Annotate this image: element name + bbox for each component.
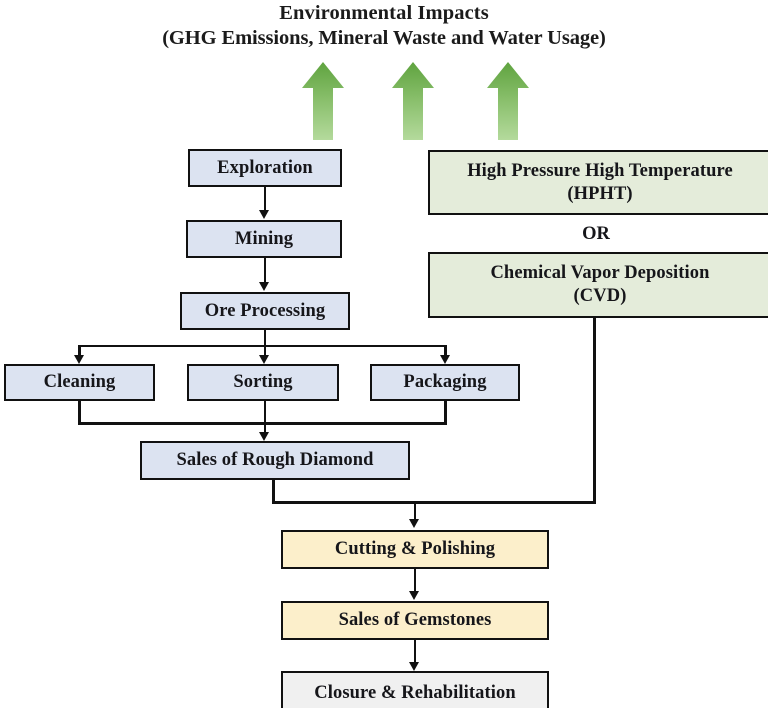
node-sorting-label: Sorting <box>189 371 337 394</box>
merge-bus-to-sales-rough-diamond <box>78 422 447 425</box>
node-sales-rough-diamond-label: Sales of Rough Diamond <box>142 449 408 472</box>
node-cvd-label-line-2: (CVD) <box>426 285 768 308</box>
connector-mining-ore-processing <box>264 258 267 284</box>
node-sales-rough-diamond[interactable]: Sales of Rough Diamond <box>140 441 410 480</box>
connector-cleaning-down <box>78 401 81 425</box>
arrowhead-closure-rehabilitation <box>409 662 419 671</box>
impact-arrow-3-icon <box>486 61 530 141</box>
node-packaging-label: Packaging <box>372 371 518 394</box>
node-ore-processing[interactable]: Ore Processing <box>180 292 350 330</box>
or-label: OR <box>428 224 764 245</box>
node-hpht-label-line-2: (HPHT) <box>426 183 768 206</box>
page-title: Environmental Impacts (GHG Emissions, Mi… <box>0 1 768 51</box>
arrowhead-cutting-polishing <box>409 519 419 528</box>
arrowhead-mining <box>259 210 269 219</box>
node-mining-label: Mining <box>188 228 340 251</box>
split-bus-cleaning-sorting-packaging <box>78 345 447 348</box>
node-closure-rehabilitation-label: Closure & Rehabilitation <box>283 682 547 705</box>
connector-cvd-down <box>593 318 596 504</box>
arrowhead-sales-rough-diamond <box>259 432 269 441</box>
page-title-line-2: (GHG Emissions, Mineral Waste and Water … <box>0 26 768 51</box>
node-cleaning[interactable]: Cleaning <box>4 364 155 401</box>
arrowhead-ore-processing <box>259 282 269 291</box>
connector-sales-rough-diamond-down <box>272 480 275 504</box>
connector-sorting-down <box>264 401 267 425</box>
arrowhead-sorting <box>259 355 269 364</box>
node-closure-rehabilitation[interactable]: Closure & Rehabilitation <box>281 671 549 708</box>
impact-arrow-2-icon <box>391 61 435 141</box>
node-cutting-polishing[interactable]: Cutting & Polishing <box>281 530 549 569</box>
flowchart-canvas: Environmental Impacts (GHG Emissions, Mi… <box>0 0 768 708</box>
impact-arrow-1-icon <box>301 61 345 141</box>
arrowhead-sales-gemstones <box>409 591 419 600</box>
node-cleaning-label: Cleaning <box>6 371 153 394</box>
arrowhead-packaging <box>440 355 450 364</box>
node-mining[interactable]: Mining <box>186 220 342 258</box>
connector-cvd-to-cutting-bus <box>272 501 596 504</box>
node-sorting[interactable]: Sorting <box>187 364 339 401</box>
node-cvd-label-line-1: Chemical Vapor Deposition <box>426 262 768 285</box>
node-hpht-label-line-1: High Pressure High Temperature <box>426 160 768 183</box>
connector-packaging-down <box>444 401 447 425</box>
node-exploration[interactable]: Exploration <box>188 149 342 187</box>
connector-exploration-mining <box>264 187 267 212</box>
node-sales-gemstones[interactable]: Sales of Gemstones <box>281 601 549 640</box>
node-cutting-polishing-label: Cutting & Polishing <box>283 538 547 561</box>
node-packaging[interactable]: Packaging <box>370 364 520 401</box>
node-sales-gemstones-label: Sales of Gemstones <box>283 609 547 632</box>
node-cvd[interactable]: Chemical Vapor Deposition (CVD) <box>428 252 768 318</box>
page-title-line-1: Environmental Impacts <box>0 1 768 26</box>
arrowhead-cleaning <box>74 355 84 364</box>
node-ore-processing-label: Ore Processing <box>182 300 348 323</box>
connector-cutting-polishing-to-sales-gemstones <box>414 569 417 593</box>
node-hpht[interactable]: High Pressure High Temperature (HPHT) <box>428 150 768 215</box>
node-exploration-label: Exploration <box>190 157 340 180</box>
